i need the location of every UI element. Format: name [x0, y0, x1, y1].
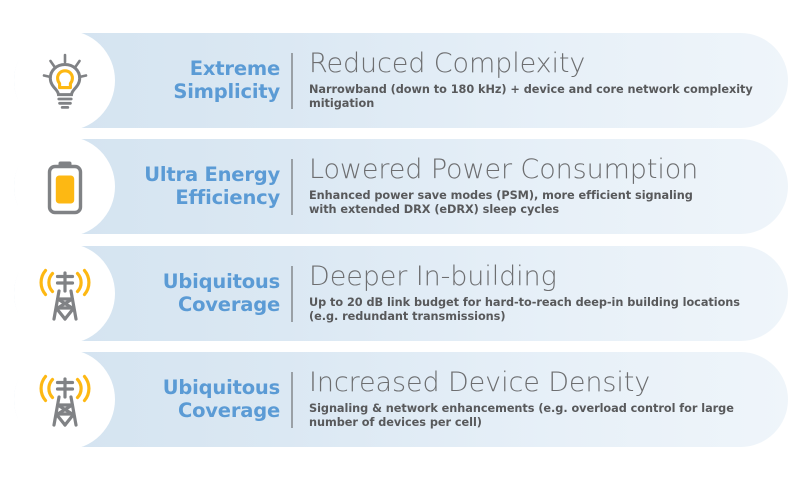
- benefit-label: Extreme Simplicity: [132, 33, 280, 128]
- benefit-description: Signaling & network enhancements (e.g. o…: [309, 402, 768, 431]
- icon-badge: [14, 136, 115, 237]
- benefit-heading: Deeper In-building: [309, 262, 768, 291]
- benefit-row: Ubiquitous Coverage Deeper In-building U…: [14, 246, 788, 341]
- benefit-label-line2: Coverage: [178, 294, 280, 316]
- benefit-label: Ubiquitous Coverage: [132, 246, 280, 341]
- benefit-heading: Lowered Power Consumption: [309, 155, 768, 184]
- benefit-label: Ubiquitous Coverage: [132, 352, 280, 447]
- benefit-label-line2: Coverage: [178, 400, 280, 422]
- benefit-label-line2: Efficiency: [175, 187, 280, 209]
- benefit-heading: Reduced Complexity: [309, 49, 768, 78]
- benefit-row: Extreme Simplicity Reduced Complexity Na…: [14, 33, 788, 128]
- benefit-label-line2: Simplicity: [173, 81, 280, 103]
- icon-badge: [14, 349, 115, 450]
- cell-tower-icon: [32, 261, 98, 327]
- benefit-content: Reduced Complexity Narrowband (down to 1…: [309, 33, 768, 128]
- benefit-label: Ultra Energy Efficiency: [132, 139, 280, 234]
- row-divider: [291, 53, 293, 109]
- benefit-description: Narrowband (down to 180 kHz) + device an…: [309, 83, 768, 112]
- benefit-row: Ultra Energy Efficiency Lowered Power Co…: [14, 139, 788, 234]
- benefit-description: Up to 20 dB link budget for hard-to-reac…: [309, 296, 768, 325]
- battery-icon: [32, 154, 98, 220]
- row-divider: [291, 266, 293, 322]
- benefit-label-line1: Ubiquitous: [163, 377, 280, 399]
- lightbulb-icon: [32, 48, 98, 114]
- icon-badge: [14, 30, 115, 131]
- benefit-label-line1: Ubiquitous: [163, 271, 280, 293]
- benefit-content: Increased Device Density Signaling & net…: [309, 352, 768, 447]
- cell-tower-icon: [32, 367, 98, 433]
- benefit-heading: Increased Device Density: [309, 368, 768, 397]
- benefit-description: Enhanced power save modes (PSM), more ef…: [309, 189, 768, 218]
- row-divider: [291, 372, 293, 428]
- benefit-content: Lowered Power Consumption Enhanced power…: [309, 139, 768, 234]
- benefit-row: Ubiquitous Coverage Increased Device Den…: [14, 352, 788, 447]
- benefit-label-line1: Ultra Energy: [144, 164, 280, 186]
- benefit-label-line1: Extreme: [190, 58, 280, 80]
- icon-badge: [14, 243, 115, 344]
- benefits-infographic: Extreme Simplicity Reduced Complexity Na…: [0, 0, 800, 480]
- benefit-content: Deeper In-building Up to 20 dB link budg…: [309, 246, 768, 341]
- row-divider: [291, 159, 293, 215]
